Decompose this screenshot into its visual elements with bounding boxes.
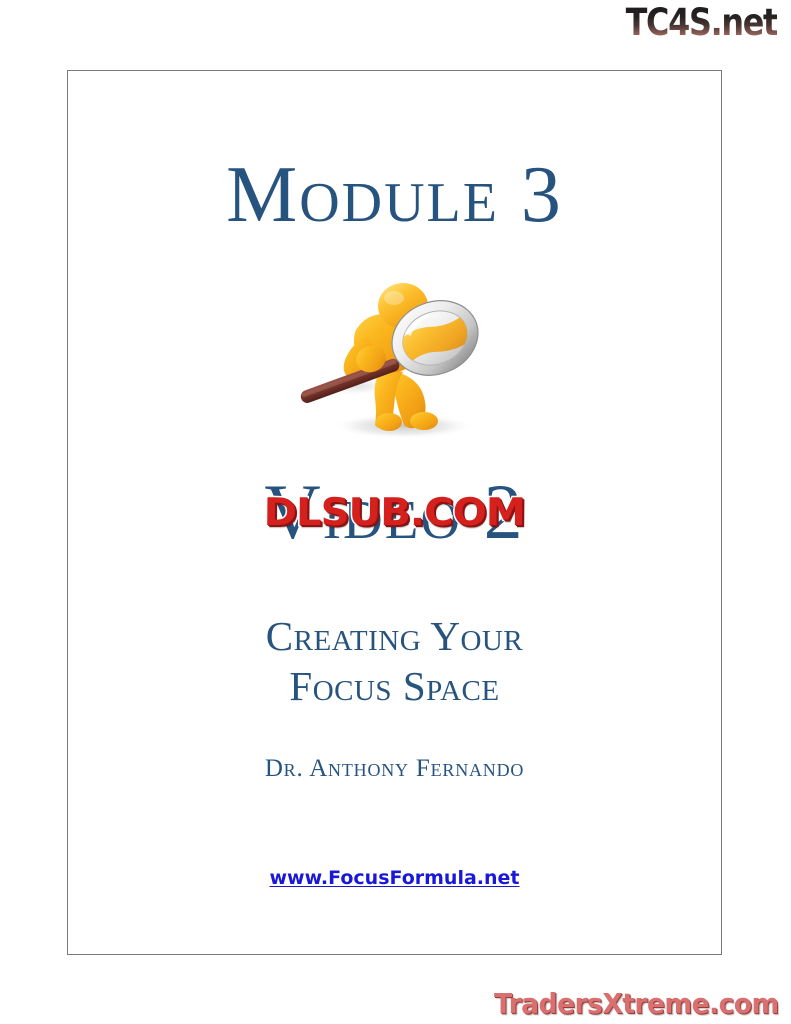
site-logo-bottom: TradersXtreme.com xyxy=(494,990,779,1018)
page-title: Module 3 xyxy=(68,155,721,235)
site-logo-top: TC4S.net xyxy=(626,4,777,41)
site-link-container: www.FocusFormula.net xyxy=(68,867,721,889)
subtitle-line-1: Creating Your xyxy=(68,611,721,661)
video-title-container: Video 2 DLSUB.COM xyxy=(68,469,721,579)
page-sheet: Module 3 xyxy=(67,70,722,955)
illustration-container xyxy=(68,276,721,444)
subtitle: Creating Your Focus Space xyxy=(68,611,721,711)
person-with-magnifying-glass-icon xyxy=(285,276,505,444)
author-name: Dr. Anthony Fernando xyxy=(68,755,721,783)
site-link[interactable]: www.FocusFormula.net xyxy=(269,867,519,889)
subtitle-line-2: Focus Space xyxy=(68,661,721,711)
video-title: Video 2 xyxy=(68,469,721,555)
